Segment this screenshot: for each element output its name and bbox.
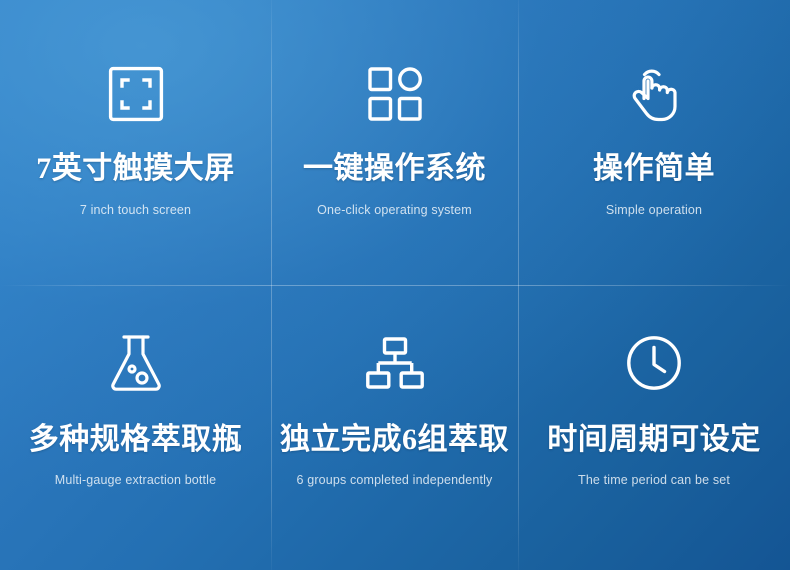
screen-frame-icon: [108, 58, 164, 130]
feature-subtitle: Simple operation: [606, 203, 702, 218]
hierarchy-icon: [366, 327, 424, 399]
feature-subtitle: 6 groups completed independently: [297, 473, 493, 488]
feature-cell-touch-screen[interactable]: 7英寸触摸大屏 7 inch touch screen: [0, 0, 271, 285]
feature-title: 独立完成6组萃取: [280, 423, 509, 456]
feature-cell-simple-operation[interactable]: 操作简单 Simple operation: [518, 0, 790, 285]
feature-cell-time-period[interactable]: 时间周期可设定 The time period can be set: [518, 285, 790, 570]
flask-icon: [109, 327, 163, 399]
feature-title: 操作简单: [593, 152, 715, 185]
feature-banner: 7英寸触摸大屏 7 inch touch screen 一键操作系统 One-c…: [0, 0, 790, 570]
feature-subtitle: One-click operating system: [317, 203, 472, 218]
feature-subtitle: The time period can be set: [578, 473, 730, 488]
feature-title: 7英寸触摸大屏: [36, 152, 235, 185]
feature-subtitle: 7 inch touch screen: [80, 203, 191, 218]
feature-subtitle: Multi-gauge extraction bottle: [55, 473, 216, 488]
feature-cell-one-click-os[interactable]: 一键操作系统 One-click operating system: [271, 0, 518, 285]
feature-title: 一键操作系统: [303, 152, 486, 185]
app-grid-icon: [368, 58, 422, 130]
tap-hand-icon: [628, 58, 680, 130]
clock-icon: [626, 327, 682, 399]
feature-cell-extraction-bottle[interactable]: 多种规格萃取瓶 Multi-gauge extraction bottle: [0, 285, 271, 570]
feature-title: 时间周期可设定: [547, 423, 761, 456]
feature-title: 多种规格萃取瓶: [29, 423, 243, 456]
feature-grid: 7英寸触摸大屏 7 inch touch screen 一键操作系统 One-c…: [0, 0, 790, 570]
feature-cell-six-groups[interactable]: 独立完成6组萃取 6 groups completed independentl…: [271, 285, 518, 570]
